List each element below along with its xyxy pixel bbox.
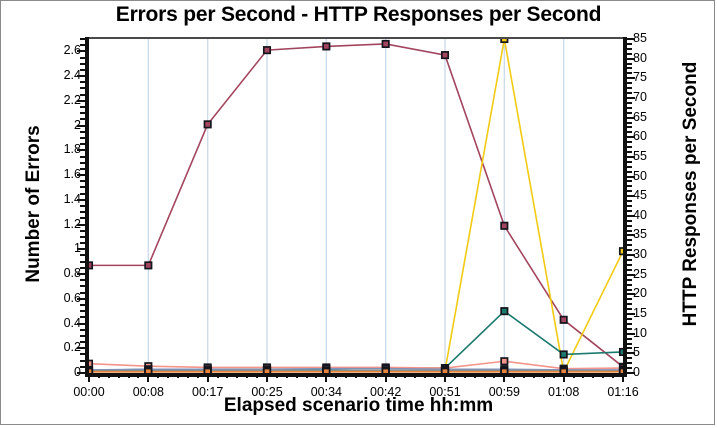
tick-mark-minor [627,122,632,124]
tick-mark-minor [627,303,632,305]
tick-mark-minor [627,367,632,369]
tick-mark [627,176,635,178]
x-axis-tick-00-51: 00:51 [420,385,470,399]
data-point-marker [560,369,566,373]
data-point-marker [560,317,566,323]
y-axis-left-tick-2: 2 [45,120,81,130]
tick-mark-minor [627,362,632,364]
tick-mark-minor [627,289,632,291]
y-axis-right-tick-55: 55 [633,151,667,161]
data-point-marker [382,41,388,47]
tick-mark-minor [627,225,632,227]
y-axis-right-ticklabels: 0510152025303540455055606570758085 [633,1,673,428]
tick-mark-minor [627,338,632,340]
y-axis-left-tick-1.4: 1.4 [45,194,81,204]
y-axis-right-tick-75: 75 [633,72,667,82]
tick-mark-minor [627,323,632,325]
tick-mark [627,58,635,60]
tick-mark-minor [627,230,632,232]
tick-mark-minor [627,357,632,359]
x-axis-tick-00-59: 00:59 [479,385,529,399]
tick-mark [77,372,85,374]
tick-mark [77,298,85,300]
tick-mark [627,215,635,217]
tick-mark-minor [627,87,632,89]
tick-mark-minor [627,249,632,251]
data-point-marker [501,358,507,364]
tick-mark-minor [627,63,632,65]
tick-mark [627,38,635,40]
data-point-marker [145,262,151,268]
tick-mark-minor [627,259,632,261]
tick-mark-minor [627,171,632,173]
y-axis-right-tick-50: 50 [633,171,667,181]
data-point-marker [204,121,210,127]
tick-mark-minor [627,343,632,345]
data-point-marker [264,369,270,373]
tick-mark-minor [627,48,632,50]
y-axis-left-tick-2.4: 2.4 [45,70,81,80]
tick-mark-minor [627,279,632,281]
y-axis-right-title: HTTP Responses per Second [680,44,702,344]
y-axis-left-tick-0: 0 [45,367,81,377]
tick-mark [77,224,85,226]
y-axis-left-ticklabels: 00.20.40.60.811.21.41.61.822.22.42.6 [41,1,81,428]
tick-mark-minor [627,200,632,202]
series-line-errors-teal [89,311,623,370]
tick-mark [627,372,635,374]
y-axis-left-tick-0.2: 0.2 [45,342,81,352]
x-axis-tick-00-42: 00:42 [361,385,411,399]
x-axis-tick-00-34: 00:34 [301,385,351,399]
tick-mark-minor [627,180,632,182]
data-point-marker [620,248,623,254]
tick-mark-minor [627,151,632,153]
tick-mark-minor [627,92,632,94]
tick-mark [627,274,635,276]
y-axis-right-tick-25: 25 [633,269,667,279]
tick-mark [627,195,635,197]
tick-mark [77,100,85,102]
y-axis-right-tick-15: 15 [633,308,667,318]
tick-mark [627,136,635,138]
tick-mark-minor [627,146,632,148]
tick-mark [627,254,635,256]
tick-mark-minor [627,67,632,69]
y-axis-right-tick-70: 70 [633,92,667,102]
tick-mark [627,77,635,79]
y-axis-left-tick-0.4: 0.4 [45,318,81,328]
series-line-errors-salmon [89,361,623,368]
y-axis-right-tick-45: 45 [633,190,667,200]
chart-container: Errors per Second - HTTP Responses per S… [0,0,715,425]
data-point-marker [382,369,388,373]
data-point-marker [501,369,507,373]
data-point-marker [89,262,92,268]
data-point-marker [620,349,623,355]
data-point-marker [442,52,448,58]
tick-mark [627,156,635,158]
tick-mark-minor [627,347,632,349]
y-axis-right-tick-65: 65 [633,112,667,122]
y-axis-right-tick-0: 0 [633,367,667,377]
x-axis-tick-00-00: 00:00 [64,385,114,399]
y-axis-right-tick-30: 30 [633,249,667,259]
x-axis-tick-00-08: 00:08 [123,385,173,399]
tick-mark-minor [627,220,632,222]
y-axis-left-tick-1.8: 1.8 [45,144,81,154]
y-axis-right-tick-5: 5 [633,347,667,357]
data-point-marker [89,369,92,373]
y-axis-right-line [623,37,627,377]
data-point-marker [501,223,507,229]
series-line-http-responses [89,39,623,372]
tick-mark-minor [627,205,632,207]
tick-mark-minor [627,43,632,45]
series-canvas [89,39,623,373]
tick-mark-minor [627,239,632,241]
tick-mark-minor [627,131,632,133]
tick-mark-minor [627,102,632,104]
y-axis-right-tick-60: 60 [633,131,667,141]
x-axis-tick-01-16: 01:16 [598,385,648,399]
tick-mark-minor [627,161,632,163]
tick-mark [77,248,85,250]
y-axis-left-tick-1: 1 [45,243,81,253]
tick-mark [627,293,635,295]
tick-mark [627,234,635,236]
data-point-marker [204,369,210,373]
y-axis-right-tick-80: 80 [633,53,667,63]
tick-mark [627,352,635,354]
tick-mark-minor [627,190,632,192]
tick-mark [77,199,85,201]
y-axis-right-tick-40: 40 [633,210,667,220]
y-axis-left-tick-1.6: 1.6 [45,169,81,179]
tick-mark [77,174,85,176]
x-axis-tick-01-08: 01:08 [539,385,589,399]
tick-mark-minor [627,107,632,109]
tick-mark-minor [627,53,632,55]
tick-mark-minor [627,264,632,266]
tick-mark-minor [627,308,632,310]
data-point-marker [145,369,151,373]
data-point-marker [323,43,329,49]
data-point-marker [560,351,566,357]
tick-mark [627,313,635,315]
tick-mark [627,97,635,99]
y-axis-left-tick-0.8: 0.8 [45,268,81,278]
tick-mark [77,149,85,151]
tick-mark-minor [627,298,632,300]
series-line-errors-steelblue [89,369,623,370]
tick-mark-minor [627,318,632,320]
tick-mark-minor [627,112,632,114]
tick-mark-minor [627,210,632,212]
tick-mark-minor [627,269,632,271]
tick-mark-minor [627,185,632,187]
data-point-marker [501,308,507,314]
x-axis-tick-00-25: 00:25 [242,385,292,399]
y-axis-right-tick-10: 10 [633,328,667,338]
tick-mark-minor [627,328,632,330]
tick-mark-minor [627,284,632,286]
data-point-marker [501,39,507,42]
tick-mark [77,347,85,349]
y-axis-right-tick-85: 85 [633,33,667,43]
y-axis-right-tick-20: 20 [633,288,667,298]
series-line-errors-main [89,44,623,367]
y-axis-right-tick-35: 35 [633,229,667,239]
tick-mark-minor [627,141,632,143]
data-point-marker [264,47,270,53]
tick-mark [627,117,635,119]
x-axis-line [85,373,627,377]
x-axis-tick-00-17: 00:17 [183,385,233,399]
tick-mark [77,323,85,325]
tick-mark-minor [627,126,632,128]
y-axis-left-tick-1.2: 1.2 [45,219,81,229]
tick-mark-minor [627,72,632,74]
y-axis-left-tick-2.2: 2.2 [45,95,81,105]
y-axis-left-tick-0.6: 0.6 [45,293,81,303]
tick-mark [77,273,85,275]
plot-area [89,39,623,373]
tick-mark-minor [627,166,632,168]
y-axis-left-tick-2.6: 2.6 [45,45,81,55]
tick-mark [77,125,85,127]
data-point-marker [323,369,329,373]
tick-mark-minor [627,244,632,246]
chart-title: Errors per Second - HTTP Responses per S… [1,3,716,27]
data-point-marker [620,369,623,373]
data-point-marker [442,369,448,373]
tick-mark-minor [627,82,632,84]
tick-mark [627,333,635,335]
